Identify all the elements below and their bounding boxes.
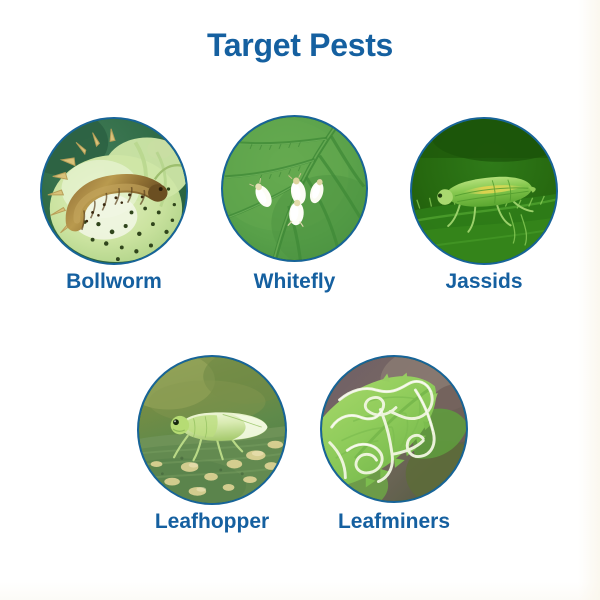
pest-image-bollworm[interactable] [40,117,188,265]
pest-image-leafminers[interactable] [320,355,468,503]
pest-label-leafhopper: Leafhopper [155,510,269,534]
whiteflies-on-green-leaf-photo [223,117,366,260]
pest-card-leafminers[interactable]: Leafminers [320,355,468,503]
green-leafhopper-on-speckled-leaf-photo [139,357,285,503]
pest-card-whitefly[interactable]: Whitefly [221,115,368,262]
edge-vignette [0,0,600,600]
pest-image-leafhopper[interactable] [137,355,287,505]
pest-label-bollworm: Bollworm [66,270,162,294]
page-title: Target Pests [0,27,600,64]
pest-card-leafhopper[interactable]: Leafhopper [137,355,287,505]
pest-label-whitefly: Whitefly [254,270,336,294]
pest-card-bollworm[interactable]: Bollworm [40,117,188,265]
pest-label-leafminers: Leafminers [338,510,450,534]
leafminer-trails-on-leaf-photo [322,357,466,501]
pest-card-jassids[interactable]: Jassids [410,117,558,265]
pest-image-jassids[interactable] [410,117,558,265]
pest-label-jassids: Jassids [445,270,522,294]
bollworm-caterpillar-on-cotton-boll-photo [42,119,186,263]
pest-image-whitefly[interactable] [221,115,368,262]
jassid-leafhopper-on-dark-leaf-photo [412,119,556,263]
